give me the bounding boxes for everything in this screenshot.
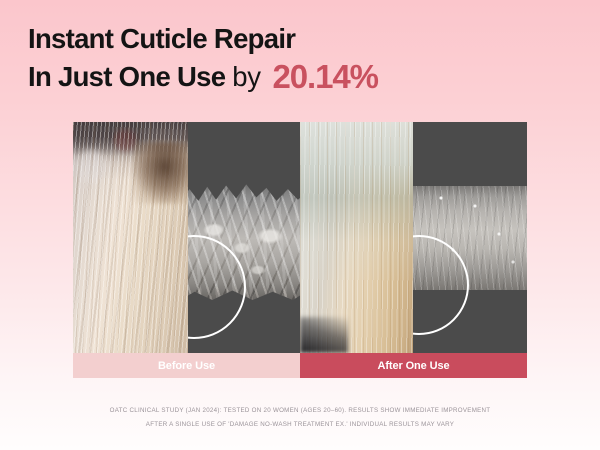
before-hair-roots [133,142,188,204]
disclaimer-line-2: AFTER A SINGLE USE OF 'DAMAGE NO-WASH TR… [0,418,600,432]
headline-by-word: by [232,61,260,92]
headline-line-2-prefix: In Just One Use [28,61,225,92]
clinical-study-disclaimer: OATC CLINICAL STUDY (JAN 2024): TESTED O… [0,404,600,431]
before-cuticle-flakes [198,218,298,288]
label-after-one-use: After One Use [300,353,527,378]
after-photo-shadow [300,317,348,353]
after-surface-specks [417,192,527,284]
headline-block: Instant Cuticle Repair In Just One Use b… [28,21,488,94]
label-before-use: Before Use [73,353,300,378]
before-hair-photo [73,122,188,353]
headline-line-2: In Just One Use by 20.14% [28,57,488,94]
comparison-label-bar: Before Use After One Use [73,353,527,378]
disclaimer-line-1: OATC CLINICAL STUDY (JAN 2024): TESTED O… [0,404,600,418]
after-hair-photo [300,122,413,353]
after-sem-micrograph [413,122,527,353]
before-sem-micrograph [188,122,300,353]
improvement-percentage: 20.14% [273,58,378,95]
before-after-comparison [73,122,527,378]
headline-line-1: Instant Cuticle Repair [28,21,488,56]
